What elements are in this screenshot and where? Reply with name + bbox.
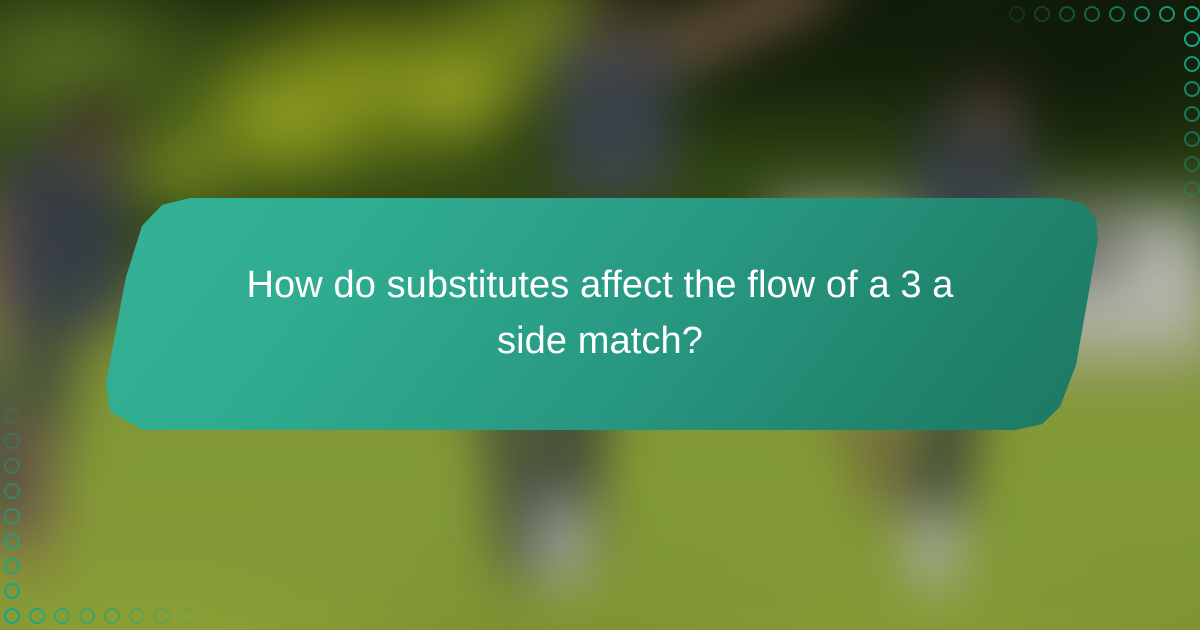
og-image-canvas: How do substitutes affect the flow of a … — [0, 0, 1200, 630]
decoration-ring-dot — [1184, 181, 1200, 197]
decoration-ring-dot — [1059, 6, 1075, 22]
question-title: How do substitutes affect the flow of a … — [230, 258, 970, 370]
decoration-ring-dot — [4, 583, 20, 599]
decoration-ring-dot — [1184, 206, 1200, 222]
decoration-ring-dot — [4, 533, 20, 549]
decoration-ring-dot — [1184, 56, 1200, 72]
decoration-ring-dot — [154, 608, 170, 624]
decoration-ring-dot — [1134, 6, 1150, 22]
decoration-ring-dot — [104, 608, 120, 624]
decoration-ring-dot — [1184, 131, 1200, 147]
decoration-ring-dot — [129, 608, 145, 624]
decoration-ring-dot — [4, 458, 20, 474]
decoration-ring-dot — [1034, 6, 1050, 22]
decoration-ring-dot — [1184, 106, 1200, 122]
question-card: How do substitutes affect the flow of a … — [100, 198, 1100, 430]
decoration-ring-dot — [1184, 31, 1200, 47]
decoration-ring-dot — [179, 608, 195, 624]
decoration-ring-dot — [4, 408, 20, 424]
decoration-ring-dot — [1184, 6, 1200, 22]
decoration-ring-dot — [1109, 6, 1125, 22]
question-card-content: How do substitutes affect the flow of a … — [100, 198, 1100, 430]
decoration-ring-dot — [1009, 6, 1025, 22]
decoration-ring-dot — [4, 433, 20, 449]
decoration-ring-dot — [4, 558, 20, 574]
decoration-ring-dot — [4, 508, 20, 524]
decoration-ring-dot — [29, 608, 45, 624]
decoration-ring-dot — [1184, 81, 1200, 97]
decoration-ring-dot — [1084, 6, 1100, 22]
decoration-ring-dot — [4, 483, 20, 499]
decoration-ring-dot — [54, 608, 70, 624]
decoration-ring-dot — [1184, 156, 1200, 172]
decoration-ring-dot — [4, 608, 20, 624]
decoration-ring-dot — [1159, 6, 1175, 22]
decoration-ring-dot — [79, 608, 95, 624]
